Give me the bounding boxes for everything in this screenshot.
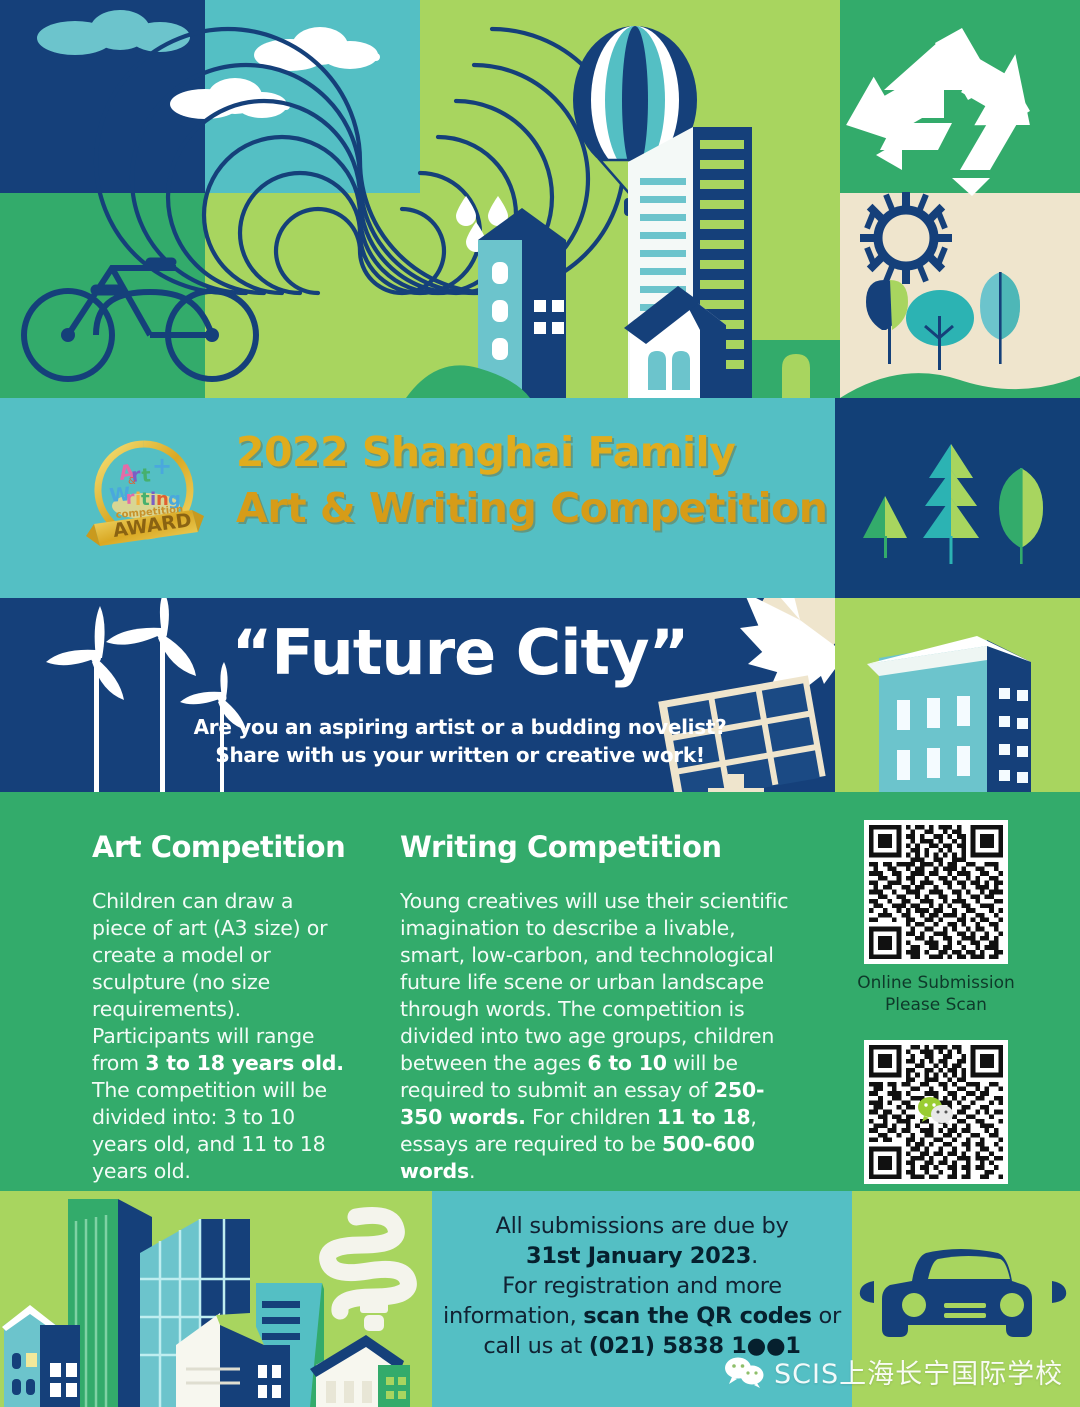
art-competition-column: Art Competition Children can draw a piec…: [92, 830, 350, 1185]
leaf-tree-icon: [999, 468, 1043, 564]
top-illustration-band: [0, 0, 1080, 398]
future-band-green-panel: [835, 598, 1080, 792]
bottom-cityscape-panel: [0, 1185, 432, 1407]
apartment-building-icon: [835, 598, 1080, 792]
qr-online-svg: [869, 825, 1003, 959]
trees-svg: [835, 398, 1080, 598]
poster-root: 2022 Shanghai Family Art & Writing Compe…: [0, 0, 1080, 1407]
qr-online-caption-line2: Please Scan: [836, 994, 1036, 1016]
qr-code-online-submission[interactable]: [864, 820, 1008, 964]
pine-tree-icon: [863, 496, 907, 558]
title-line-2: Art & Writing Competition: [236, 480, 836, 536]
top-illustration-svg: [0, 0, 1080, 398]
building-icon: [478, 208, 566, 398]
qr-online-caption-line1: Online Submission: [836, 972, 1036, 994]
wechat-icon: [916, 1096, 956, 1126]
writing-competition-heading: Writing Competition: [400, 830, 798, 864]
wechat-icon: [724, 1356, 766, 1388]
competition-title: 2022 Shanghai Family Art & Writing Compe…: [236, 424, 836, 536]
bottom-divider: [0, 1185, 1080, 1191]
svg-text:r: r: [125, 488, 135, 509]
qr-online-caption: Online Submission Please Scan: [836, 972, 1036, 1016]
wind-turbine-icon: [46, 606, 124, 792]
content-band: Art Competition Children can draw a piec…: [0, 792, 1080, 1185]
watermark-text: SCIS上海长宁国际学校: [774, 1352, 1063, 1391]
qr-code-more-information[interactable]: [864, 1040, 1008, 1184]
cfl-bulb-icon: [328, 1216, 409, 1332]
theme-subtitle-2: Share with us your written or creative w…: [180, 742, 740, 769]
theme-subtitle-1: Are you an aspiring artist or a budding …: [180, 714, 740, 741]
art-competition-body: Children can draw a piece of art (A3 siz…: [92, 888, 350, 1185]
award-badge-icon: A r t + & W r i t i n g competition AWAR…: [80, 432, 208, 558]
city-skyline-icon: [0, 1185, 432, 1407]
qr-column: Online Submission Please Scan: [836, 820, 1036, 1236]
future-city-band: “Future City” Are you an aspiring artist…: [0, 598, 1080, 792]
svg-text:t: t: [141, 464, 152, 487]
title-line-1: 2022 Shanghai Family: [236, 424, 836, 480]
writing-competition-body: Young creatives will use their scientifi…: [400, 888, 798, 1185]
watermark: SCIS上海长宁国际学校: [724, 1352, 1063, 1391]
art-competition-heading: Art Competition: [92, 830, 350, 864]
building-icon: [752, 340, 840, 398]
writing-competition-column: Writing Competition Young creatives will…: [400, 830, 798, 1185]
svg-text:+: +: [152, 452, 172, 480]
title-band-navy-panel: [835, 398, 1080, 598]
theme-title: “Future City”: [200, 616, 720, 690]
submission-info: All submissions are due by31st January 2…: [432, 1211, 852, 1361]
qr-block-online: Online Submission Please Scan: [836, 820, 1036, 1016]
pine-tree-icon: [923, 444, 979, 564]
